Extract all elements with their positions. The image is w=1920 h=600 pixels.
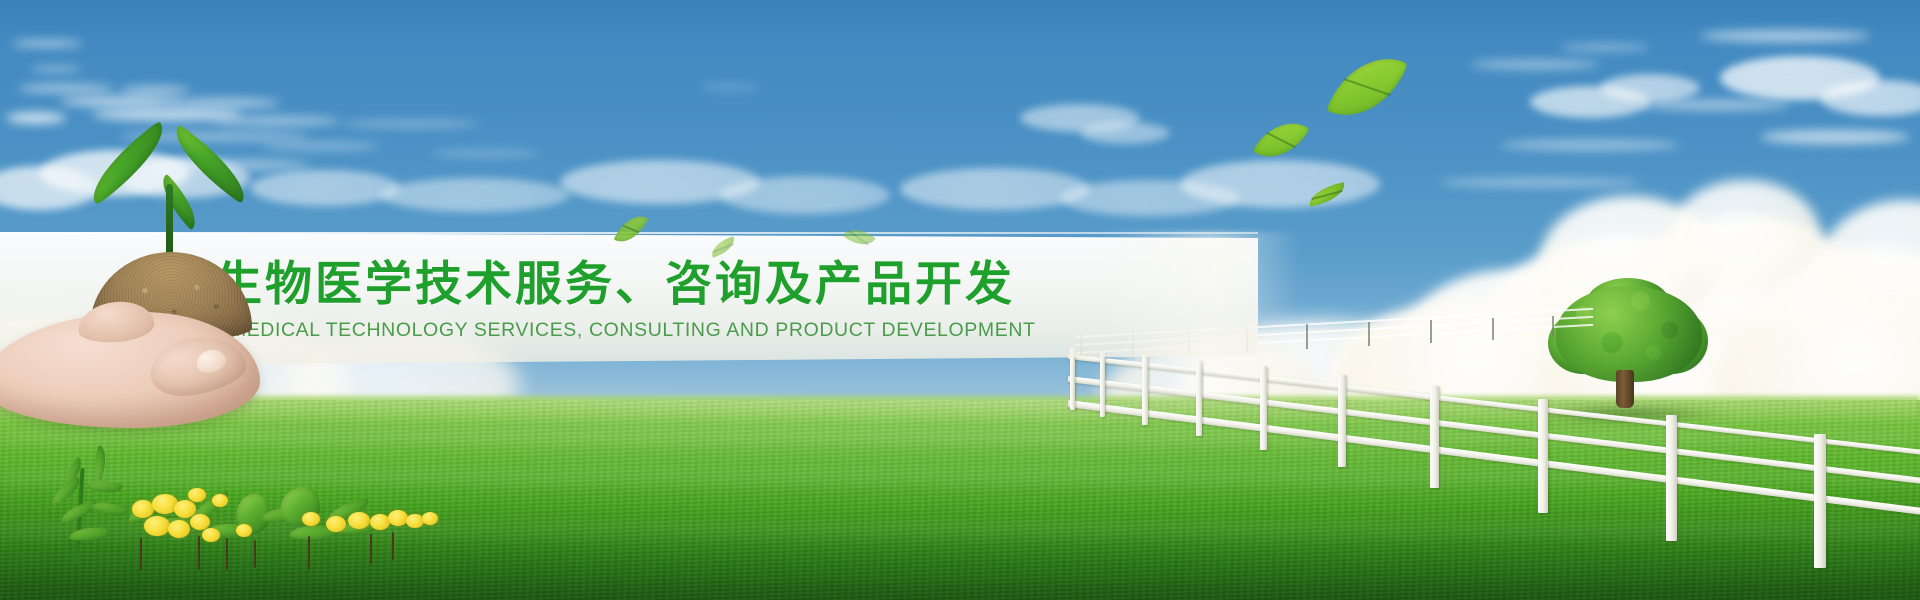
yellow-flower	[370, 514, 390, 530]
hero-banner: 生物医学技术服务、咨询及产品开发 BIOMEDICAL TECHNOLOGY S…	[0, 0, 1920, 600]
fence-far-post	[1430, 320, 1432, 343]
plant-leaf	[69, 523, 111, 544]
fence-post	[1538, 399, 1548, 513]
fence-far-post	[1552, 316, 1554, 337]
fence-far-post	[1368, 322, 1370, 346]
yellow-flower	[168, 520, 190, 538]
yellow-flower	[302, 512, 320, 526]
flower-stem	[370, 534, 372, 564]
yellow-flower	[388, 510, 408, 526]
fence-far-post	[1492, 318, 1494, 340]
flower-stem	[308, 536, 310, 570]
hand-holding-soil	[0, 246, 302, 436]
flower-stem	[226, 538, 228, 570]
yellow-flower	[188, 488, 206, 502]
flower-cluster	[40, 450, 460, 600]
sprout-stem	[166, 184, 173, 258]
plant-leaf	[89, 445, 111, 479]
yellow-flower	[144, 516, 170, 536]
yellow-flower	[326, 516, 346, 532]
fence-post	[1666, 415, 1677, 541]
fence-post	[1430, 386, 1439, 488]
yellow-flower	[236, 524, 252, 537]
yellow-flower	[132, 500, 154, 518]
flower-stem	[140, 538, 142, 570]
fence-post	[1814, 434, 1826, 568]
fence-post	[1260, 366, 1267, 450]
flower-stem	[392, 532, 394, 560]
plant-leaf	[91, 495, 130, 522]
fence-post	[1196, 360, 1202, 436]
yellow-flower	[202, 528, 220, 542]
fence-far-post	[1306, 324, 1308, 349]
fence-post	[1338, 375, 1346, 467]
page-subtitle: BIOMEDICAL TECHNOLOGY SERVICES, CONSULTI…	[194, 319, 1035, 342]
flower-stem	[254, 540, 256, 568]
plant-leaf	[87, 475, 124, 499]
yellow-flower	[422, 512, 438, 525]
yellow-flower	[348, 512, 370, 529]
yellow-flower	[212, 494, 228, 507]
page-title: 生物医学技术服务、咨询及产品开发	[215, 258, 1015, 311]
flower-stem	[198, 536, 200, 570]
